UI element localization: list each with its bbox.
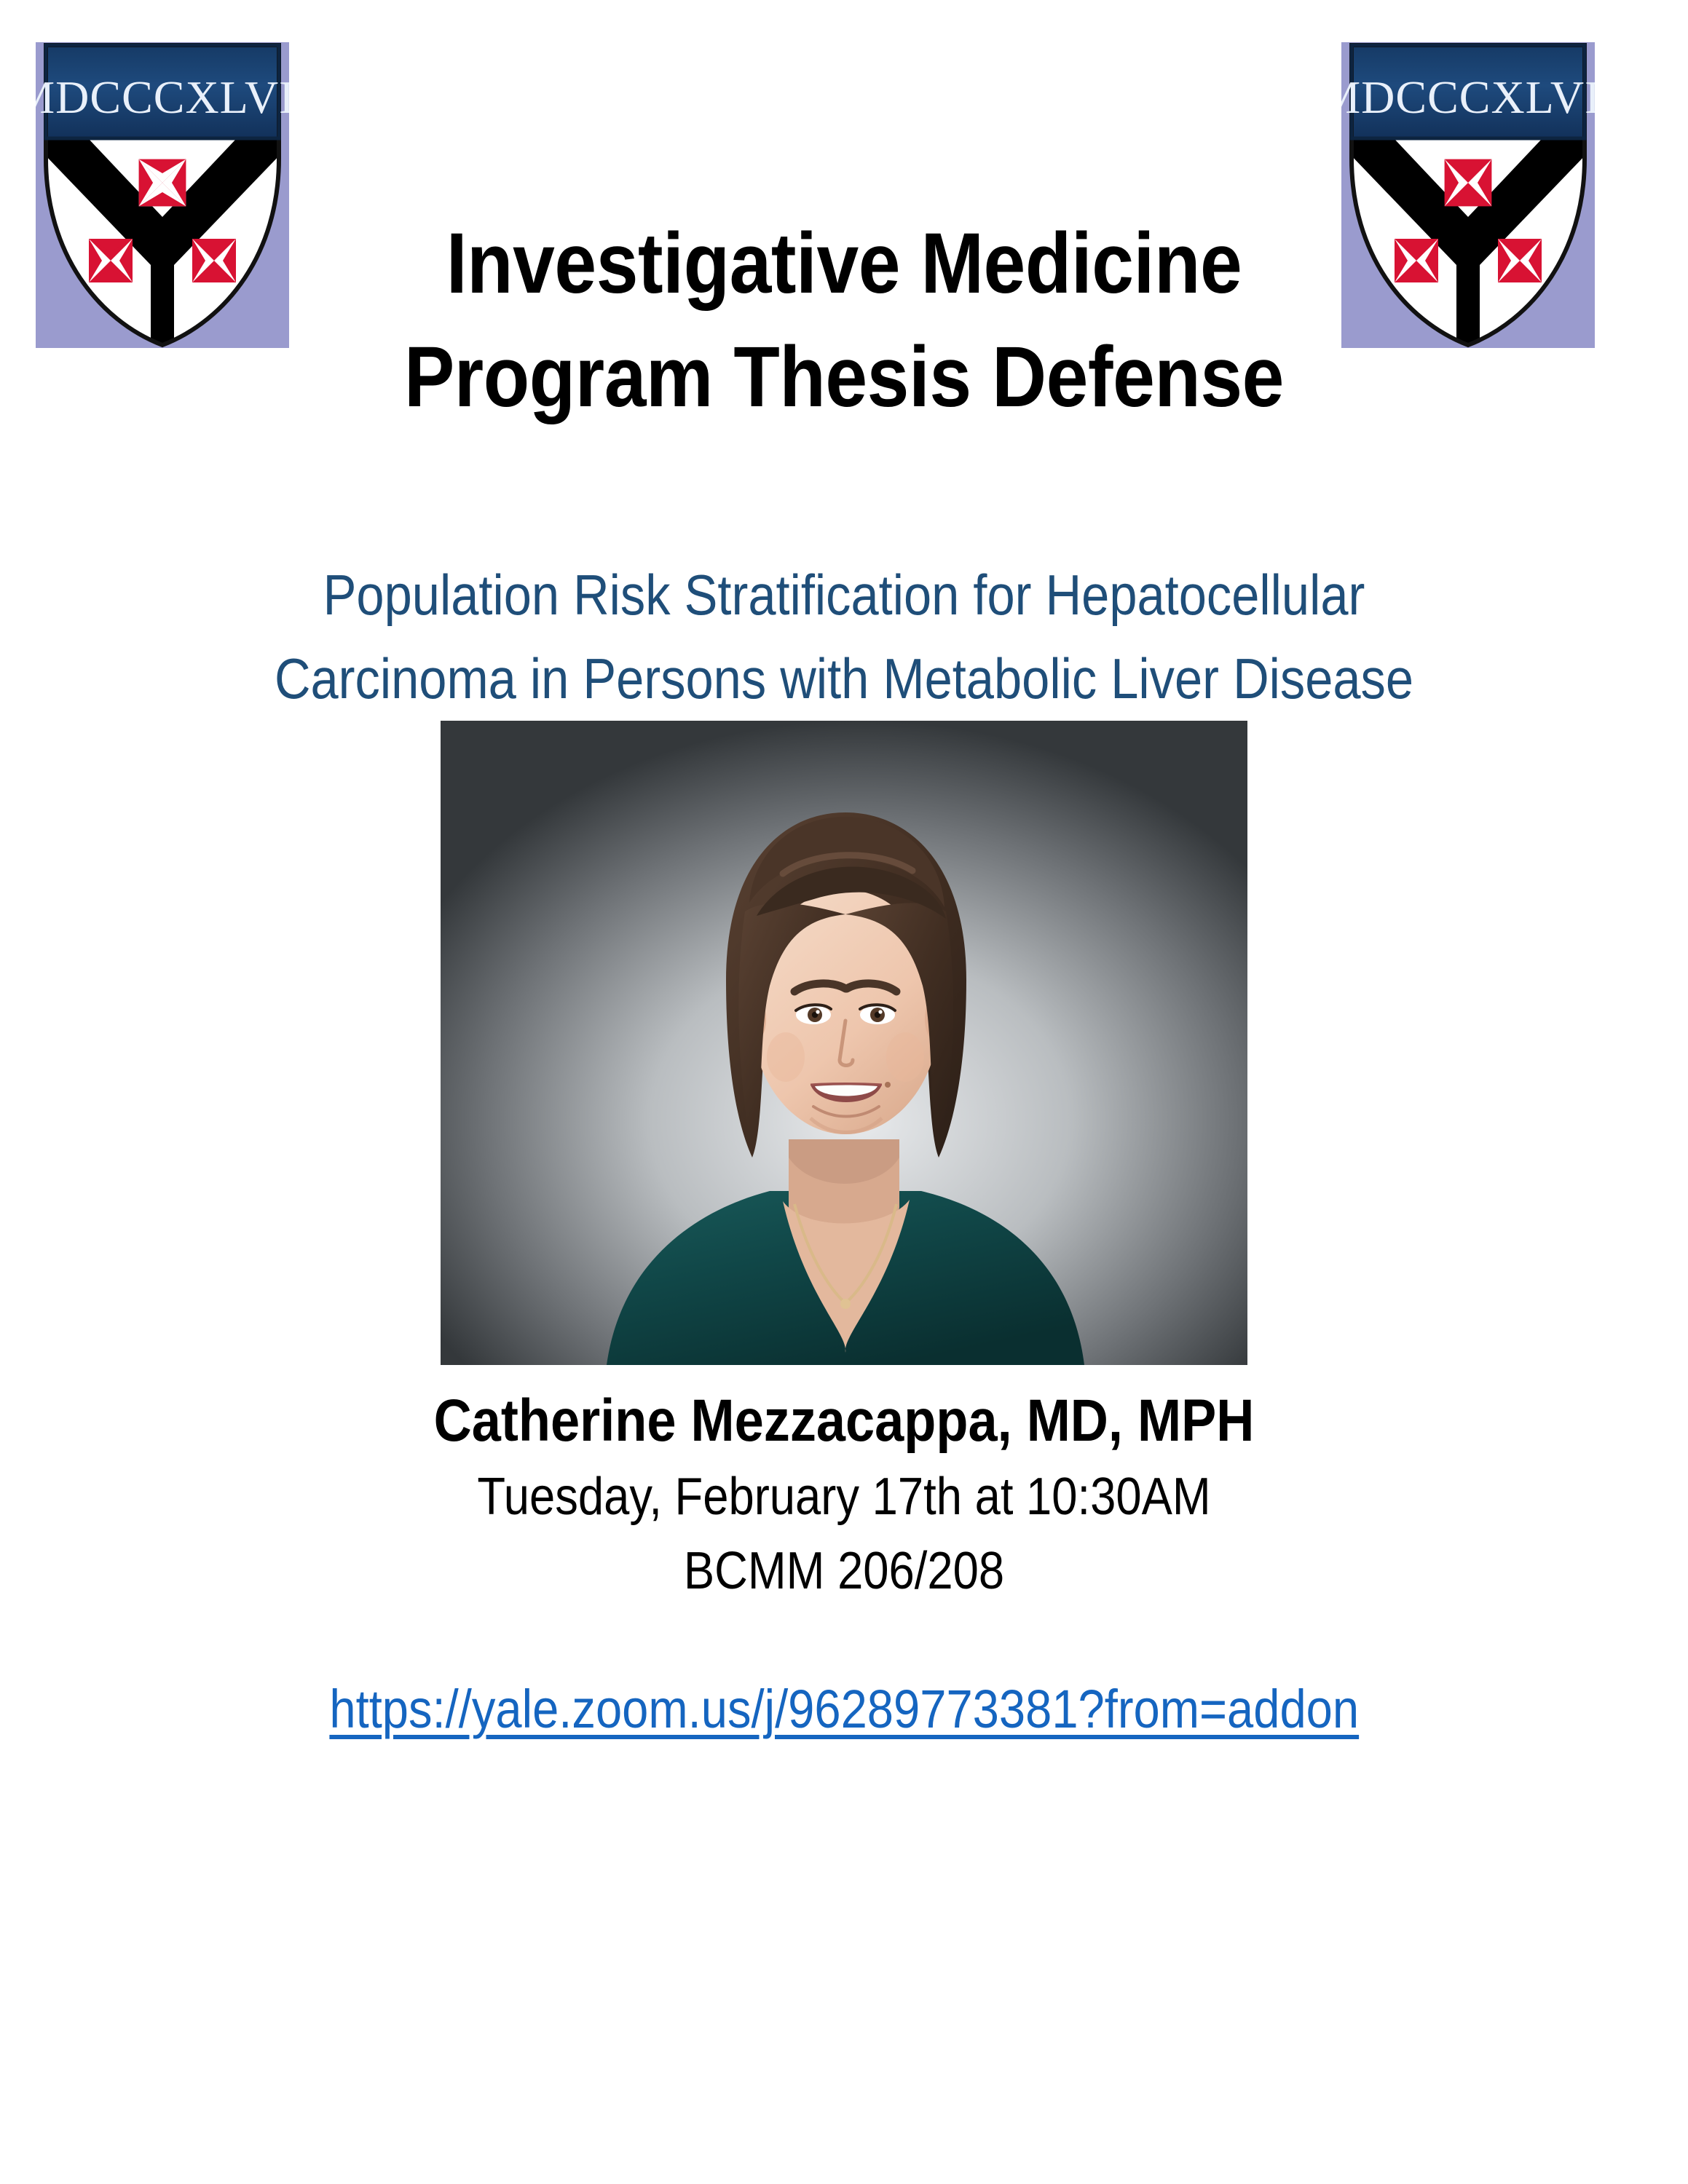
speaker-name: Catherine Mezzacappa, MD, MPH bbox=[101, 1383, 1587, 1460]
subtitle-line-1: Population Risk Stratification for Hepat… bbox=[101, 553, 1587, 637]
maltese-cross-icon-top bbox=[1445, 159, 1492, 207]
title-line-1: Investigative Medicine bbox=[101, 207, 1587, 321]
subtitle-line-2: Carcinoma in Persons with Metabolic Live… bbox=[101, 637, 1587, 721]
thesis-subtitle: Population Risk Stratification for Hepat… bbox=[0, 553, 1688, 720]
page-title: Investigative Medicine Program Thesis De… bbox=[0, 207, 1688, 435]
event-details: Catherine Mezzacappa, MD, MPH Tuesday, F… bbox=[0, 1383, 1688, 1608]
speaker-portrait bbox=[441, 721, 1247, 1365]
maltese-cross-icon-top bbox=[139, 159, 186, 207]
event-location: BCMM 206/208 bbox=[101, 1534, 1587, 1608]
event-datetime: Tuesday, February 17th at 10:30AM bbox=[101, 1460, 1587, 1534]
speaker-portrait-image bbox=[441, 721, 1247, 1365]
shield-year-text: MDCCCXLVII bbox=[36, 71, 289, 123]
zoom-link-container: https://yale.zoom.us/j/96289773381?from=… bbox=[0, 1678, 1688, 1740]
title-line-2: Program Thesis Defense bbox=[101, 321, 1587, 435]
zoom-meeting-link[interactable]: https://yale.zoom.us/j/96289773381?from=… bbox=[329, 1678, 1359, 1740]
shield-year-text: MDCCCXLVII bbox=[1341, 71, 1595, 123]
